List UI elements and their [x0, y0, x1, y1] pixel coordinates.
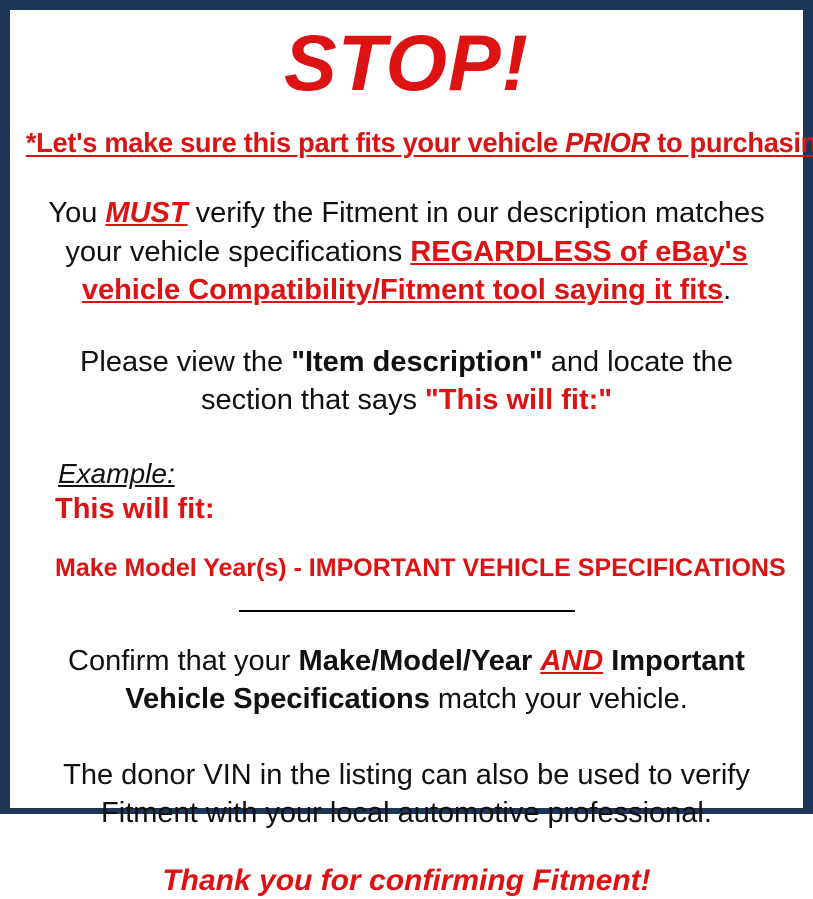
- example-label-row: Example:: [58, 458, 791, 490]
- must-seg3: .: [723, 274, 731, 306]
- paragraph-please-view: Please view the "Item description" and l…: [22, 343, 791, 420]
- divider-wrapper: [22, 610, 791, 620]
- must-emphasis: MUST: [105, 197, 187, 229]
- example-fit-heading: This will fit:: [55, 492, 791, 527]
- confirm-seg2: match your vehicle.: [430, 683, 688, 715]
- thank-you-line: Thank you for confirming Fitment!: [22, 863, 791, 899]
- subtitle-prior-emphasis: PRIOR: [565, 127, 650, 158]
- item-description-emphasis: "Item description": [291, 346, 542, 378]
- please-seg1: Please view the: [80, 346, 291, 378]
- this-will-fit-quote: "This will fit:": [425, 384, 612, 416]
- stop-title: STOP!: [22, 23, 791, 102]
- subtitle-after: to purchasing*: [650, 127, 813, 158]
- fitment-notice-banner: STOP! *Let's make sure this part fits yo…: [0, 0, 813, 814]
- section-divider: [239, 610, 575, 612]
- paragraph-must-verify: You MUST verify the Fitment in our descr…: [22, 194, 791, 309]
- subtitle-line: *Let's make sure this part fits your veh…: [26, 128, 787, 158]
- confirm-seg1: Confirm that your: [68, 645, 298, 677]
- example-label: Example:: [58, 458, 175, 490]
- example-block: Example: This will fit: Make Model Year(…: [22, 458, 791, 583]
- and-emphasis: AND: [540, 645, 603, 677]
- example-spec-line: Make Model Year(s) - IMPORTANT VEHICLE S…: [55, 553, 791, 583]
- notice-content: STOP! *Let's make sure this part fits yo…: [10, 23, 803, 808]
- paragraph-donor-vin: The donor VIN in the listing can also be…: [22, 756, 791, 833]
- paragraph-confirm: Confirm that your Make/Model/Year AND Im…: [22, 642, 791, 719]
- must-seg1: You: [48, 197, 105, 229]
- subtitle-before: *Let's make sure this part fits your veh…: [26, 127, 565, 158]
- make-model-year-emphasis: Make/Model/Year: [299, 645, 533, 677]
